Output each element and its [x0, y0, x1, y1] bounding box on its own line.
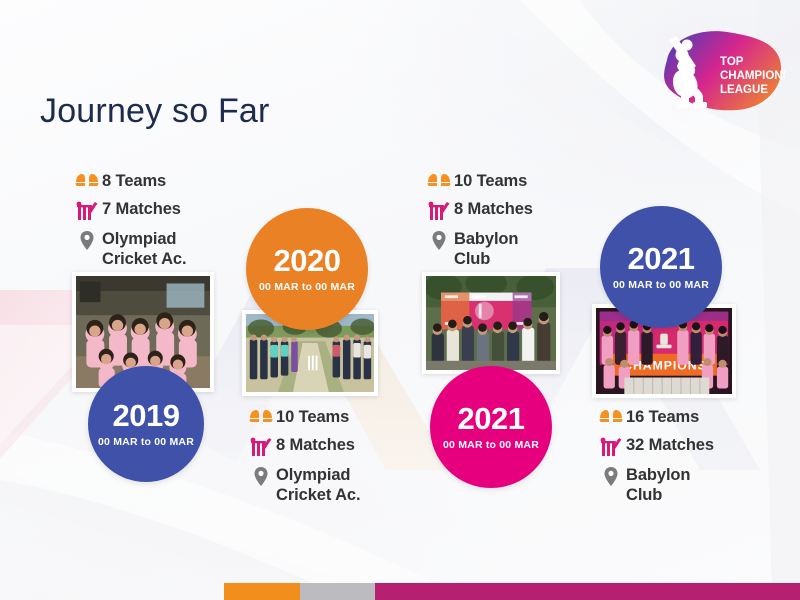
- footer-accent-bar: [0, 583, 800, 600]
- stat-row-matches: 8 Matches: [424, 200, 533, 221]
- two-helmets-icon: [246, 408, 276, 425]
- matches-count: 32 Matches: [626, 436, 714, 455]
- location-pin-icon: [424, 230, 454, 250]
- year-label: 2019: [113, 400, 180, 431]
- matches-count: 8 Matches: [276, 436, 355, 455]
- year-badge-2021-a[interactable]: 2021 00 MAR to 00 MAR: [430, 366, 552, 488]
- milestone-stats-2021-b: 16 Teams 32 Matches: [596, 408, 714, 514]
- logo-line-1: TOP: [720, 56, 744, 68]
- location-pin-icon: [72, 230, 102, 250]
- stat-row-matches: 32 Matches: [596, 436, 714, 457]
- venue-line-1: Babylon: [626, 466, 690, 484]
- stat-row-venue: Babylon Club: [596, 466, 714, 505]
- cricket-bat-stumps-icon: [424, 200, 454, 221]
- slide-canvas: Journey so Far: [0, 0, 800, 600]
- location-pin-icon: [246, 466, 276, 486]
- stat-row-venue: Olympiad Cricket Ac.: [246, 466, 361, 505]
- date-range-label: 00 MAR to 00 MAR: [98, 436, 194, 448]
- milestone-stats-2020: 10 Teams 8 Matches: [246, 408, 361, 514]
- stat-row-venue: Olympiad Cricket Ac.: [72, 230, 187, 269]
- date-range-label: 00 MAR to 00 MAR: [613, 279, 709, 291]
- venue-name: Babylon Club: [454, 230, 518, 269]
- venue-line-2: Cricket Ac.: [102, 250, 187, 268]
- footer-bar-spacer: [0, 583, 224, 600]
- milestone-stats-2019: 8 Teams 7 Matches: [72, 172, 187, 278]
- footer-bar-gray-segment: [300, 583, 375, 600]
- page-title: Journey so Far: [40, 92, 270, 131]
- stat-row-teams: 10 Teams: [424, 172, 533, 191]
- teams-count: 10 Teams: [454, 172, 527, 191]
- venue-line-1: Olympiad: [276, 466, 350, 484]
- teams-count: 10 Teams: [276, 408, 349, 427]
- milestone-photo-2021a: [422, 272, 560, 374]
- venue-line-2: Club: [626, 486, 662, 504]
- stat-row-matches: 7 Matches: [72, 200, 187, 221]
- stat-row-venue: Babylon Club: [424, 230, 533, 269]
- date-range-label: 00 MAR to 00 MAR: [259, 281, 355, 293]
- venue-line-1: Babylon: [454, 230, 518, 248]
- brand-logo: TOP CHAMPIONS LEAGUE: [645, 24, 785, 116]
- venue-name: Babylon Club: [626, 466, 690, 505]
- footer-bar-magenta-segment: [375, 583, 800, 600]
- venue-line-2: Cricket Ac.: [276, 486, 361, 504]
- year-badge-2019[interactable]: 2019 00 MAR to 00 MAR: [88, 366, 204, 482]
- date-range-label: 00 MAR to 00 MAR: [443, 439, 539, 451]
- matches-count: 7 Matches: [102, 200, 181, 219]
- two-helmets-icon: [596, 408, 626, 425]
- footer-bar-orange-segment: [224, 583, 300, 600]
- two-helmets-icon: [424, 172, 454, 189]
- year-badge-2020[interactable]: 2020 00 MAR to 00 MAR: [246, 208, 368, 330]
- year-label: 2021: [628, 243, 695, 274]
- location-pin-icon: [596, 466, 626, 486]
- logo-line-3: LEAGUE: [720, 84, 768, 96]
- teams-count: 8 Teams: [102, 172, 166, 191]
- logo-line-2: CHAMPIONS: [720, 70, 785, 82]
- year-badge-2021-b[interactable]: 2021 00 MAR to 00 MAR: [600, 206, 722, 328]
- stat-row-teams: 8 Teams: [72, 172, 187, 191]
- year-label: 2020: [274, 245, 341, 276]
- year-label: 2021: [458, 403, 525, 434]
- teams-count: 16 Teams: [626, 408, 699, 427]
- cricket-bat-stumps-icon: [72, 200, 102, 221]
- two-helmets-icon: [72, 172, 102, 189]
- venue-name: Olympiad Cricket Ac.: [102, 230, 187, 269]
- venue-line-2: Club: [454, 250, 490, 268]
- venue-line-1: Olympiad: [102, 230, 176, 248]
- stat-row-teams: 10 Teams: [246, 408, 361, 427]
- cricket-bat-stumps-icon: [246, 436, 276, 457]
- cricket-bat-stumps-icon: [596, 436, 626, 457]
- stat-row-matches: 8 Matches: [246, 436, 361, 457]
- venue-name: Olympiad Cricket Ac.: [276, 466, 361, 505]
- matches-count: 8 Matches: [454, 200, 533, 219]
- stat-row-teams: 16 Teams: [596, 408, 714, 427]
- milestone-stats-2021-a: 10 Teams 8 Matches: [424, 172, 533, 278]
